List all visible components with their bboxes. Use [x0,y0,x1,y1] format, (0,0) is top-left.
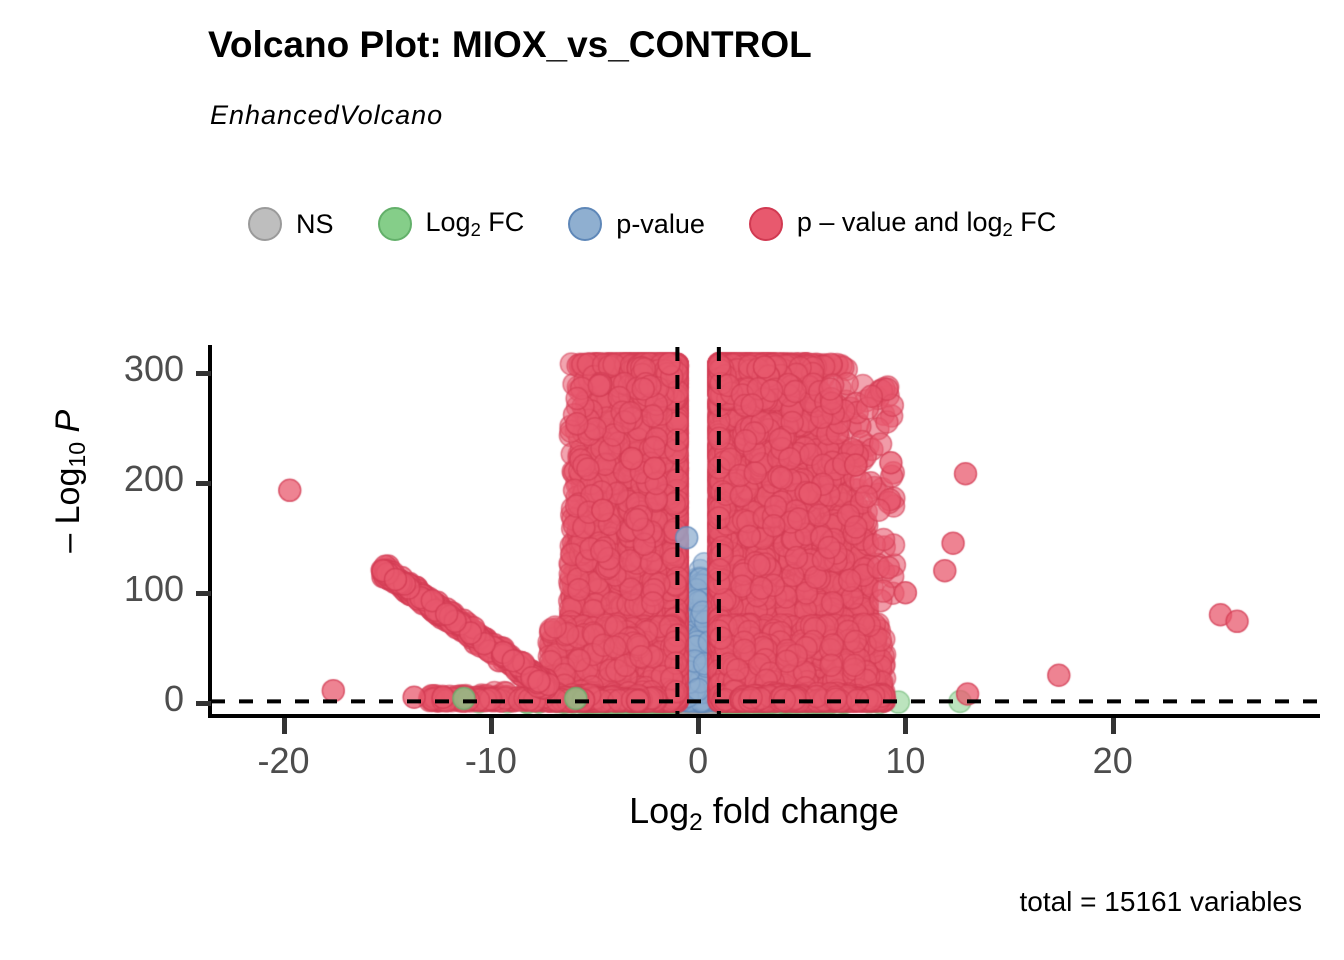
legend-label-pvalue-and-log2fc: p – value and log2 FC [797,207,1056,241]
y-axis-tick [196,371,211,376]
plot-subtitle: EnhancedVolcano [210,100,443,131]
legend-item-pvalue-and-log2fc[interactable]: p – value and log2 FC [749,207,1056,241]
page-title: Volcano Plot: MIOX_vs_CONTROL [208,24,812,66]
x-axis-tick-label: 10 [885,740,925,782]
x-axis-line [208,714,1320,718]
legend-marker-pvalue-and-log2fc-icon [749,207,783,241]
x-axis-tick [696,718,701,734]
y-axis-tick [196,481,211,486]
legend-label-log2fc: Log2 FC [426,207,525,241]
x-axis-tick [1111,718,1116,734]
x-axis-title: Log2 fold change [208,790,1320,837]
legend-item-ns[interactable]: NS [248,207,334,241]
y-axis-tick-label: 300 [124,348,184,390]
legend-spacer [334,224,378,225]
legend-spacer [524,224,568,225]
x-axis-tick-label: -20 [258,740,310,782]
y-axis-tick [196,701,211,706]
plot-panel [211,345,1320,716]
legend-item-log2fc[interactable]: Log2 FC [378,207,525,241]
legend-label-ns: NS [296,209,334,240]
legend: NSLog2 FCp-valuep – value and log2 FC [248,196,1056,252]
scatter-points-canvas [211,345,1320,716]
x-axis-tick-label: -10 [465,740,517,782]
y-axis-line [208,345,212,718]
legend-marker-pvalue-icon [568,207,602,241]
y-axis-tick-label: 100 [124,568,184,610]
x-axis-tick [282,718,287,734]
y-axis-tick-label: 0 [164,678,184,720]
legend-marker-log2fc-icon [378,207,412,241]
legend-spacer [705,224,749,225]
y-axis-tick [196,591,211,596]
x-axis-tick [489,718,494,734]
volcano-plot-figure: Volcano Plot: MIOX_vs_CONTROL EnhancedVo… [0,0,1344,960]
total-variables-caption: total = 15161 variables [1019,886,1302,918]
y-axis-title: – Log10 P [49,351,91,611]
x-axis-tick-label: 20 [1093,740,1133,782]
legend-label-pvalue: p-value [616,209,705,240]
y-axis-tick-label: 200 [124,458,184,500]
legend-marker-ns-icon [248,207,282,241]
x-axis-tick-label: 0 [688,740,708,782]
legend-item-pvalue[interactable]: p-value [568,207,705,241]
x-axis-tick [903,718,908,734]
